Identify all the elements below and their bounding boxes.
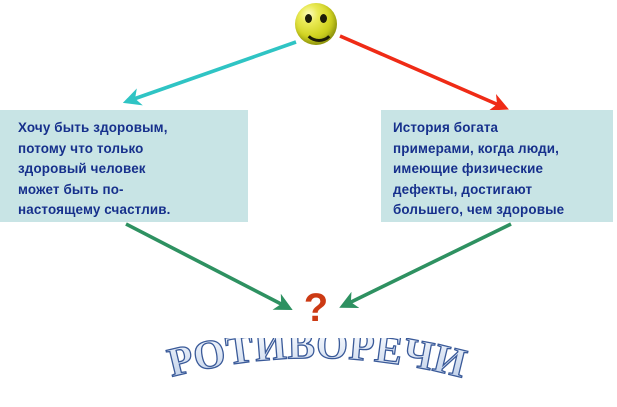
question-mark: ? <box>296 288 336 328</box>
wordart-text: ПРОТИВОРЕЧИЕ <box>150 338 472 387</box>
smiley-mouth-icon <box>303 16 335 42</box>
arrow-right-box-to-question <box>347 224 511 304</box>
statement-line: большего, чем здоровые <box>393 200 607 221</box>
statement-line: История богата <box>393 118 607 139</box>
smiley-face-icon <box>295 3 337 45</box>
wordart-title: ПРОТИВОРЕЧИЕ <box>150 338 480 404</box>
statement-line: настоящему счастлив. <box>18 200 242 221</box>
statement-line: здоровый человек <box>18 159 242 180</box>
arrow-left-box-to-question <box>126 224 285 306</box>
arrow-smiley-to-right-box <box>340 36 501 106</box>
statement-line: может быть по- <box>18 180 242 201</box>
statement-box-left: Хочу быть здоровым, потому что только зд… <box>0 110 248 222</box>
arrow-smiley-to-left-box <box>131 42 296 100</box>
diagram-canvas: Хочу быть здоровым, потому что только зд… <box>0 0 617 407</box>
statement-line: Хочу быть здоровым, <box>18 118 242 139</box>
statement-line: потому что только <box>18 139 242 160</box>
wordart-textpath: ПРОТИВОРЕЧИЕ <box>150 338 472 387</box>
statement-line: примерами, когда люди, <box>393 139 607 160</box>
statement-box-right: История богата примерами, когда люди, им… <box>381 110 613 222</box>
statement-line: дефекты, достигают <box>393 180 607 201</box>
statement-line: имеющие физические <box>393 159 607 180</box>
